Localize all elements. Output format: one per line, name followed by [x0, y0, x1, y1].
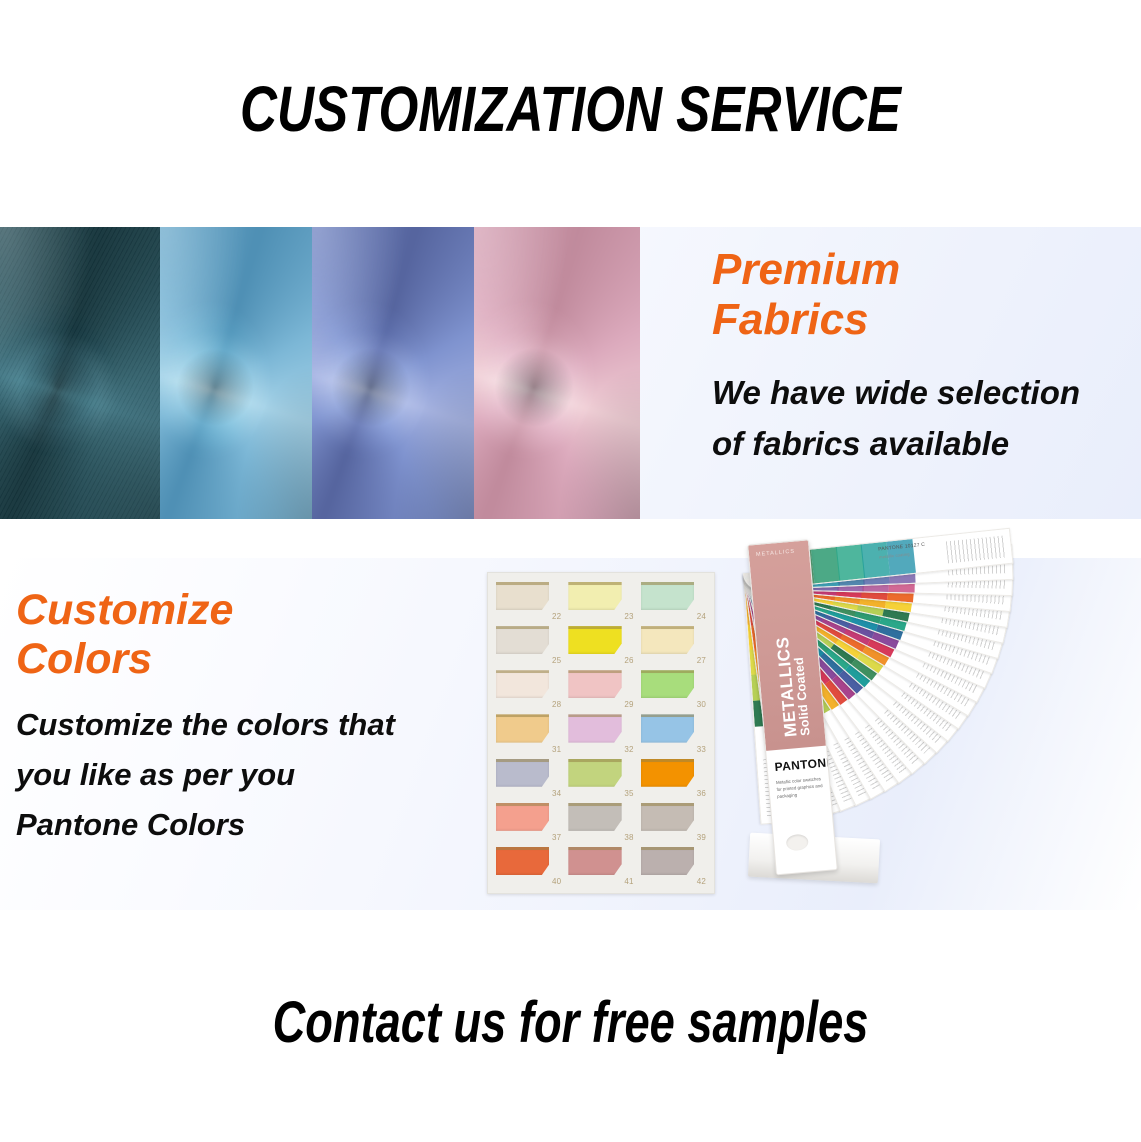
premium-fabrics-panel: Premium Fabrics We have wide selection o… [0, 227, 1141, 519]
swatch-chip-number: 30 [697, 700, 706, 709]
swatch-chip: 29 [568, 670, 633, 708]
swatch-chip-color [568, 582, 621, 610]
swatch-chip: 23 [568, 582, 633, 620]
swatch-chip-color [641, 714, 694, 742]
swatch-chip-color [568, 759, 621, 787]
swatch-chip-number: 34 [552, 789, 561, 798]
customization-service-banner: CUSTOMIZATION SERVICE [0, 0, 1141, 1142]
customize-colors-body-line3: Pantone Colors [16, 800, 486, 850]
customize-colors-copy: Customize Colors Customize the colors th… [16, 586, 486, 851]
swatch-chip-number: 35 [624, 789, 633, 798]
swatch-chip: 36 [641, 759, 706, 797]
premium-fabrics-heading-line1: Premium [712, 245, 1132, 295]
swatch-chip: 24 [641, 582, 706, 620]
swatch-chip: 35 [568, 759, 633, 797]
swatch-chip: 32 [568, 714, 633, 752]
swatch-chip-number: 28 [552, 700, 561, 709]
swatch-chip-number: 31 [552, 745, 561, 754]
swatch-chip-color [641, 582, 694, 610]
swatch-chip-color [641, 847, 694, 875]
swatch-chip-number: 25 [552, 656, 561, 665]
swatch-chip: 39 [641, 803, 706, 841]
fabric-shadow-layer [160, 227, 312, 519]
pantone-brand-text: PANTONE [774, 755, 835, 774]
swatch-chip: 37 [496, 803, 561, 841]
swatch-chip-color [641, 759, 694, 787]
fabric-shadow-layer [0, 227, 160, 519]
swatch-chip-number: 37 [552, 833, 561, 842]
swatch-chip-color [641, 803, 694, 831]
swatch-chip-number: 41 [624, 877, 633, 886]
swatch-chip: 40 [496, 847, 561, 885]
customize-colors-heading: Customize Colors [16, 586, 486, 684]
swatch-chip-color [641, 670, 694, 698]
premium-fabrics-heading-line2: Fabrics [712, 295, 1132, 345]
swatch-chip: 28 [496, 670, 561, 708]
fabric-swatch-periwinkle [312, 227, 474, 519]
swatch-chip-number: 24 [697, 612, 706, 621]
swatch-chip: 31 [496, 714, 561, 752]
swatch-chip-color [496, 759, 549, 787]
customize-colors-heading-line2: Colors [16, 635, 486, 684]
swatch-chip: 30 [641, 670, 706, 708]
swatch-chip-number: 42 [697, 877, 706, 886]
customize-colors-heading-line1: Customize [16, 586, 486, 635]
swatch-chip: 38 [568, 803, 633, 841]
swatch-chip-color [496, 626, 549, 654]
swatch-chip-number: 32 [624, 745, 633, 754]
swatch-chip-number: 33 [697, 745, 706, 754]
swatch-chip: 41 [568, 847, 633, 885]
swatch-chip: 26 [568, 626, 633, 664]
pantone-thumb-hole [786, 834, 809, 852]
fabric-swatch-dark-teal [0, 227, 160, 519]
swatch-chip-color [568, 626, 621, 654]
swatch-chip-color [568, 847, 621, 875]
swatch-chip: 34 [496, 759, 561, 797]
swatch-chip-color [496, 847, 549, 875]
swatch-chip: 22 [496, 582, 561, 620]
color-swatch-card: 2223242526272829303132333435363738394041… [487, 572, 715, 894]
swatch-chip-number: 26 [624, 656, 633, 665]
customize-colors-body: Customize the colors that you like as pe… [16, 700, 486, 851]
fabric-swatch-pink [474, 227, 640, 519]
swatch-chip-number: 23 [624, 612, 633, 621]
swatch-chip-number: 27 [697, 656, 706, 665]
swatch-chip-color [496, 582, 549, 610]
fabric-swatch-light-blue [160, 227, 312, 519]
swatch-chip-number: 36 [697, 789, 706, 798]
swatch-chip-color [568, 714, 621, 742]
fabric-shadow-layer [474, 227, 640, 519]
swatch-chip-color [641, 626, 694, 654]
customize-colors-body-line2: you like as per you [16, 750, 486, 800]
swatch-chip-number: 39 [697, 833, 706, 842]
premium-fabrics-body: We have wide selection of fabrics availa… [712, 367, 1132, 469]
swatch-chip: 27 [641, 626, 706, 664]
swatch-chip: 33 [641, 714, 706, 752]
band-bottom-mask [0, 910, 1141, 924]
swatch-chip-color [568, 670, 621, 698]
swatch-chip-number: 22 [552, 612, 561, 621]
swatch-chip-color [496, 714, 549, 742]
customize-colors-body-line1: Customize the colors that [16, 700, 486, 750]
swatch-chip: 25 [496, 626, 561, 664]
swatch-chip-number: 38 [624, 833, 633, 842]
footer-cta: Contact us for free samples [126, 989, 1016, 1056]
swatch-chip-number: 40 [552, 877, 561, 886]
premium-fabrics-copy: Premium Fabrics We have wide selection o… [712, 245, 1132, 470]
fabric-swatch-strip [0, 227, 640, 519]
premium-fabrics-heading: Premium Fabrics [712, 245, 1132, 345]
page-title: CUSTOMIZATION SERVICE [114, 72, 1027, 146]
pantone-blurb: Metallic color swatches for printed grap… [776, 776, 826, 801]
swatch-chip: 42 [641, 847, 706, 885]
swatch-chip-color [496, 670, 549, 698]
swatch-chip-color [568, 803, 621, 831]
fabric-shadow-layer [312, 227, 474, 519]
pantone-fan-deck: PANTONE 10127 Cmetallic coatingPANTONE 1… [725, 536, 1141, 918]
premium-fabrics-body-line1: We have wide selection [712, 367, 1132, 418]
premium-fabrics-body-line2: of fabrics available [712, 418, 1132, 469]
swatch-chip-number: 29 [624, 700, 633, 709]
swatch-chip-color [496, 803, 549, 831]
